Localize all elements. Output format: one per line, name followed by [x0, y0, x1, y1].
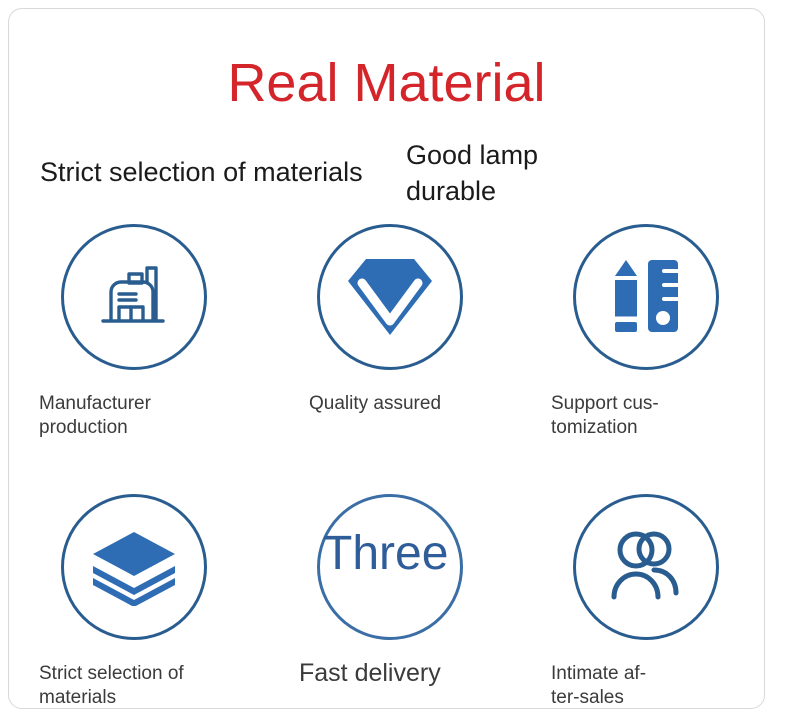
- icon-circle-wrap: [573, 494, 719, 640]
- feature-item-intimate-after-sales[interactable]: Intimate af- ter-sales: [543, 494, 765, 709]
- feature-label-line2: materials: [39, 686, 254, 709]
- layers-icon: [89, 528, 179, 606]
- icon-circle-wrap: [317, 224, 463, 370]
- screenshot-root: Real Material Strict selection of materi…: [0, 0, 790, 725]
- pencil-ruler-icon: [604, 256, 688, 338]
- diamond-icon: [340, 251, 440, 343]
- icon-circle-wrap: [61, 224, 207, 370]
- subtitle-right-line2: durable: [406, 173, 636, 209]
- subtitle-right: Good lamp durable: [406, 137, 636, 209]
- icon-circle: [573, 494, 719, 640]
- feature-row: Manufacturer production: [9, 224, 765, 494]
- feature-label: Fast delivery: [299, 658, 514, 688]
- subtitle-right-line1: Good lamp: [406, 137, 636, 173]
- feature-card: Real Material Strict selection of materi…: [8, 8, 765, 709]
- feature-label: Support cus- tomization: [551, 392, 765, 440]
- factory-icon: [91, 254, 177, 340]
- feature-label-line2: tomization: [551, 416, 765, 440]
- feature-label-line1: Intimate af-: [551, 662, 765, 686]
- feature-label-line1: Strict selection of: [39, 662, 254, 686]
- three-overlay-text: Three: [323, 528, 448, 580]
- feature-label-line2: production: [39, 416, 254, 440]
- feature-item-fast-delivery[interactable]: Three Fast delivery: [287, 494, 537, 688]
- feature-label-line1: Fast delivery: [299, 658, 514, 688]
- feature-item-support-customization[interactable]: Support cus- tomization: [543, 224, 765, 440]
- feature-label: Manufacturer production: [39, 392, 254, 440]
- feature-item-strict-selection[interactable]: Strict selection of materials: [31, 494, 281, 709]
- feature-item-quality-assured[interactable]: Quality assured: [287, 224, 537, 416]
- icon-circle: [317, 224, 463, 370]
- feature-grid: Manufacturer production: [9, 224, 765, 709]
- icon-circle-wrap: Three: [317, 494, 463, 640]
- icon-circle-wrap: [573, 224, 719, 370]
- feature-item-manufacturer-production[interactable]: Manufacturer production: [31, 224, 281, 440]
- subtitle-left: Strict selection of materials: [40, 155, 363, 189]
- icon-circle: [61, 494, 207, 640]
- feature-label: Quality assured: [309, 392, 524, 416]
- feature-label-line2: ter-sales: [551, 686, 765, 709]
- icon-circle: [573, 224, 719, 370]
- page-title: Real Material: [9, 53, 764, 113]
- users-icon: [602, 529, 690, 605]
- feature-label-line1: Support cus-: [551, 392, 765, 416]
- feature-label-line1: Quality assured: [309, 392, 524, 416]
- icon-circle-wrap: [61, 494, 207, 640]
- feature-label: Strict selection of materials: [39, 662, 254, 709]
- icon-circle: [61, 224, 207, 370]
- feature-label: Intimate af- ter-sales: [551, 662, 765, 709]
- feature-row: Strict selection of materials Three Fast…: [9, 494, 765, 709]
- feature-label-line1: Manufacturer: [39, 392, 254, 416]
